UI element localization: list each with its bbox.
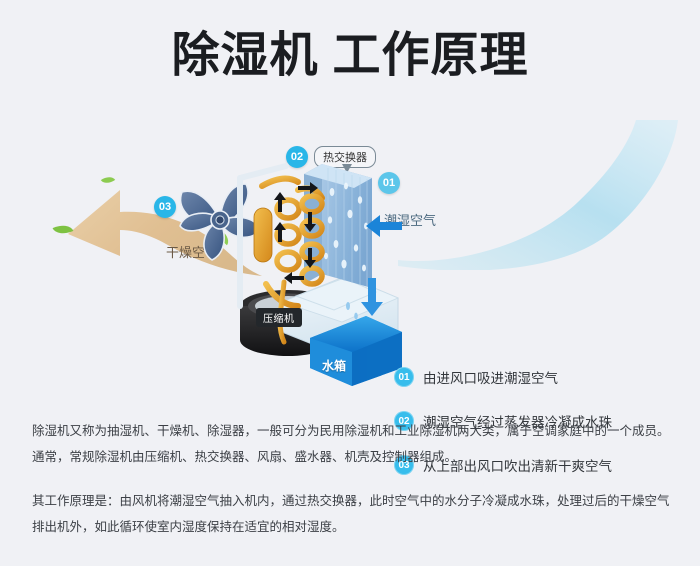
description-block: 除湿机又称为抽湿机、干燥机、除湿器，一般可分为民用除湿机和工业除湿机两大类，属于… <box>32 418 672 540</box>
illustration-stage: 01 潮湿空气 03 干燥空气 <box>0 112 700 402</box>
water-tank-label: 水箱 <box>322 357 346 374</box>
dry-air-badge-number: 03 <box>154 196 176 218</box>
description-paragraph-1: 除湿机又称为抽湿机、干燥机、除湿器，一般可分为民用除湿机和工业除湿机两大类，属于… <box>32 418 672 470</box>
machine-illustration-icon <box>226 156 406 386</box>
legend-item-01: 01 由进风口吸进潮湿空气 <box>394 367 684 387</box>
title-part-2: 工作原理 <box>333 29 529 82</box>
dry-air-badge: 03 <box>154 196 176 218</box>
compressor-label: 压缩机 <box>256 308 302 327</box>
description-paragraph-2: 其工作原理是：由风机将潮湿空气抽入机内，通过热交换器，此时空气中的水分子冷凝成水… <box>32 488 672 540</box>
dehumidifier-machine: 压缩机 水箱 <box>226 156 406 386</box>
legend-badge-01: 01 <box>394 367 414 387</box>
title-text: 除湿机工作原理 <box>171 32 528 80</box>
humid-air-swoosh <box>392 120 682 270</box>
humid-air-swoosh-icon <box>392 120 682 270</box>
title-part-1: 除湿机 <box>171 29 318 82</box>
legend-text-01: 由进风口吸进潮湿空气 <box>423 367 558 387</box>
page-title: 除湿机工作原理 <box>0 32 700 80</box>
infographic-page: 除湿机工作原理 01 潮湿空气 <box>0 0 700 566</box>
